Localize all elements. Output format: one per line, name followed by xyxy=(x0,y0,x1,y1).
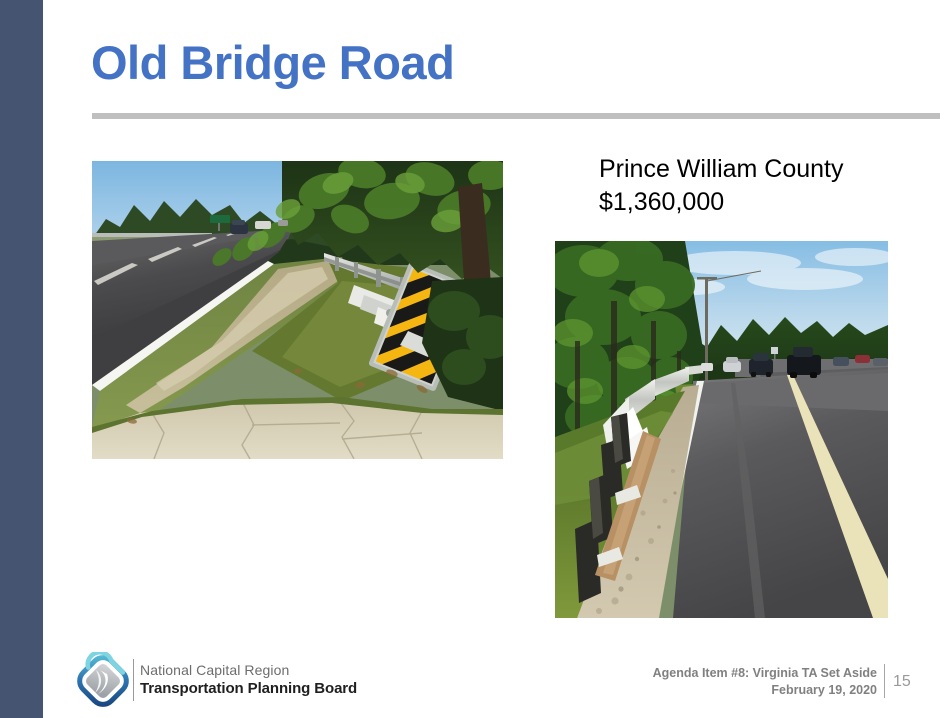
org-name-line2: Transportation Planning Board xyxy=(140,680,357,699)
agenda-item-label: Agenda Item #8: Virginia TA Set Aside xyxy=(653,665,877,682)
presentation-date: February 19, 2020 xyxy=(653,682,877,699)
tpb-logo-graphic xyxy=(74,652,132,710)
title-divider-rule xyxy=(92,113,940,119)
page-number: 15 xyxy=(893,673,911,691)
tpb-diamond-logo-icon xyxy=(74,652,132,710)
footer-logo-divider xyxy=(133,659,134,701)
footer-meta: Agenda Item #8: Virginia TA Set Aside Fe… xyxy=(653,665,877,699)
page-title: Old Bridge Road xyxy=(91,38,454,87)
photo-damaged-guardrail-end-treatment xyxy=(92,161,503,459)
caption-amount: $1,360,000 xyxy=(599,186,844,219)
left-accent-bar xyxy=(0,0,43,718)
project-caption: Prince William County $1,360,000 xyxy=(599,153,844,219)
caption-county: Prince William County xyxy=(599,153,844,186)
photo-right-graphic xyxy=(555,241,888,618)
page-number-divider xyxy=(884,664,885,698)
org-name-line1: National Capital Region xyxy=(140,662,357,680)
organization-name: National Capital Region Transportation P… xyxy=(140,662,357,698)
photo-left-graphic xyxy=(92,161,503,459)
photo-guardrail-along-shoulder xyxy=(555,241,888,618)
